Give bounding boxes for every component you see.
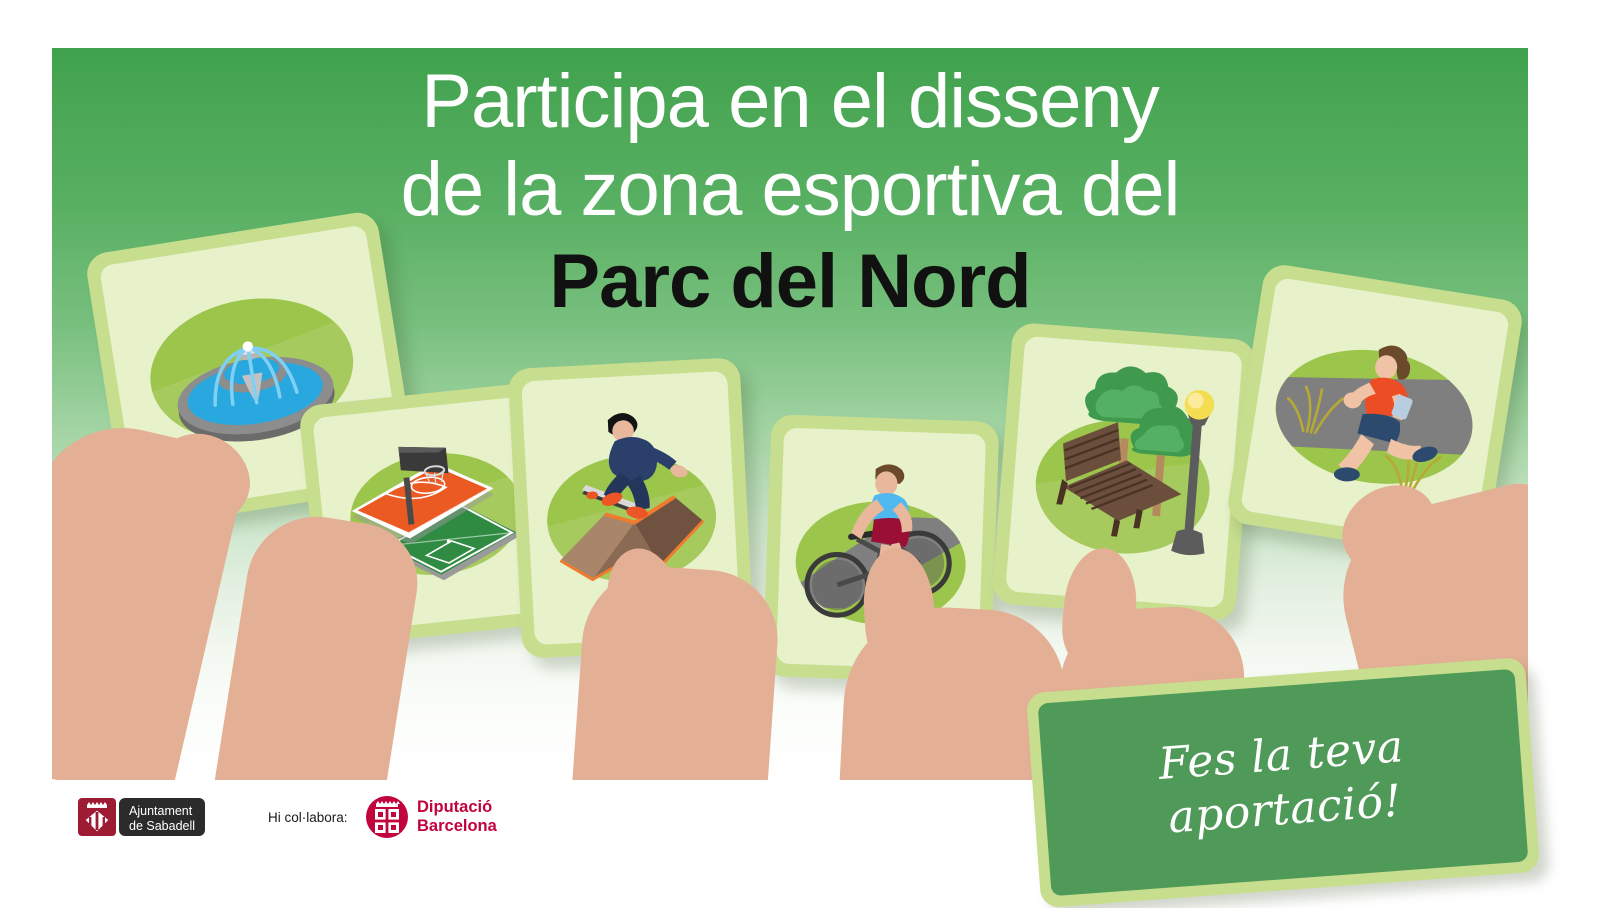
poster-canvas: Participa en el disseny de la zona espor… xyxy=(0,0,1600,900)
diputacio-barcelona-logo[interactable]: Diputació Barcelona xyxy=(366,796,497,838)
diputacio-line-1: Diputació xyxy=(417,798,497,817)
ajuntament-line-2: de Sabadell xyxy=(129,819,195,834)
headline-line-1: Participa en el disseny xyxy=(52,58,1528,146)
runner-figure-icon xyxy=(1331,339,1456,497)
ajuntament-name-box: Ajuntament de Sabadell xyxy=(119,798,205,836)
sabadell-crest-icon xyxy=(78,798,116,836)
banner: Participa en el disseny de la zona espor… xyxy=(52,48,1528,780)
ajuntament-de-sabadell-logo[interactable]: Ajuntament de Sabadell xyxy=(78,798,205,836)
callout-inner: Fes la teva aportació! xyxy=(1038,669,1529,896)
diputacio-name: Diputació Barcelona xyxy=(417,798,497,836)
ajuntament-line-1: Ajuntament xyxy=(129,804,195,819)
diputacio-line-2: Barcelona xyxy=(417,817,497,836)
collaborate-label: Hi col·labora: xyxy=(268,810,348,825)
diputacio-crest-icon xyxy=(366,796,408,838)
callout-box[interactable]: Fes la teva aportació! xyxy=(1026,657,1540,908)
headline-line-2: de la zona esportiva del xyxy=(52,146,1528,234)
grass-icon xyxy=(1283,384,1343,436)
